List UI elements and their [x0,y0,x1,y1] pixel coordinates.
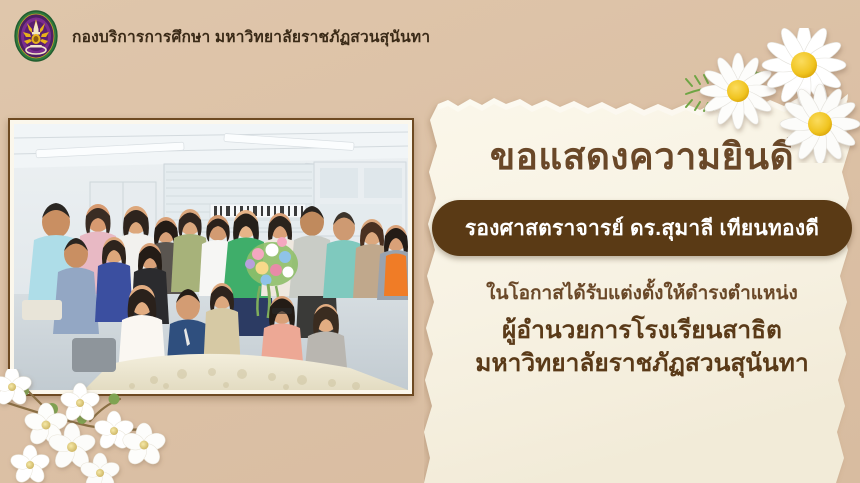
congratulations-title: ขอแสดงความยินดี [430,138,854,175]
banner-canvas: กองบริการการศึกษา มหาวิทยาลัยราชภัฏสวนสุ… [0,0,860,483]
occasion-text: ในโอกาสได้รับแต่งตั้งให้ดำรงตำแหน่ง [430,283,854,306]
photo-frame [8,118,414,396]
page-header: กองบริการการศึกษา มหาวิทยาลัยราชภัฏสวนสุ… [0,0,860,72]
university-seal-icon [14,10,58,62]
position-text: ผู้อำนวยการโรงเรียนสาธิต มหาวิทยาลัยราชภ… [430,315,854,380]
message-column: ขอแสดงความยินดี รองศาสตราจารย์ ดร.สุมาลี… [430,0,854,483]
position-line-2: มหาวิทยาลัยราชภัฏสวนสุนันทา [430,348,854,381]
honoree-name: รองศาสตราจารย์ ดร.สุมาลี เทียนทองดี [465,212,819,245]
header-title: กองบริการการศึกษา มหาวิทยาลัยราชภัฏสวนสุ… [72,24,430,49]
honoree-name-pill: รองศาสตราจารย์ ดร.สุมาลี เทียนทองดี [432,200,852,256]
group-photo [14,124,408,390]
position-line-1: ผู้อำนวยการโรงเรียนสาธิต [430,315,854,348]
